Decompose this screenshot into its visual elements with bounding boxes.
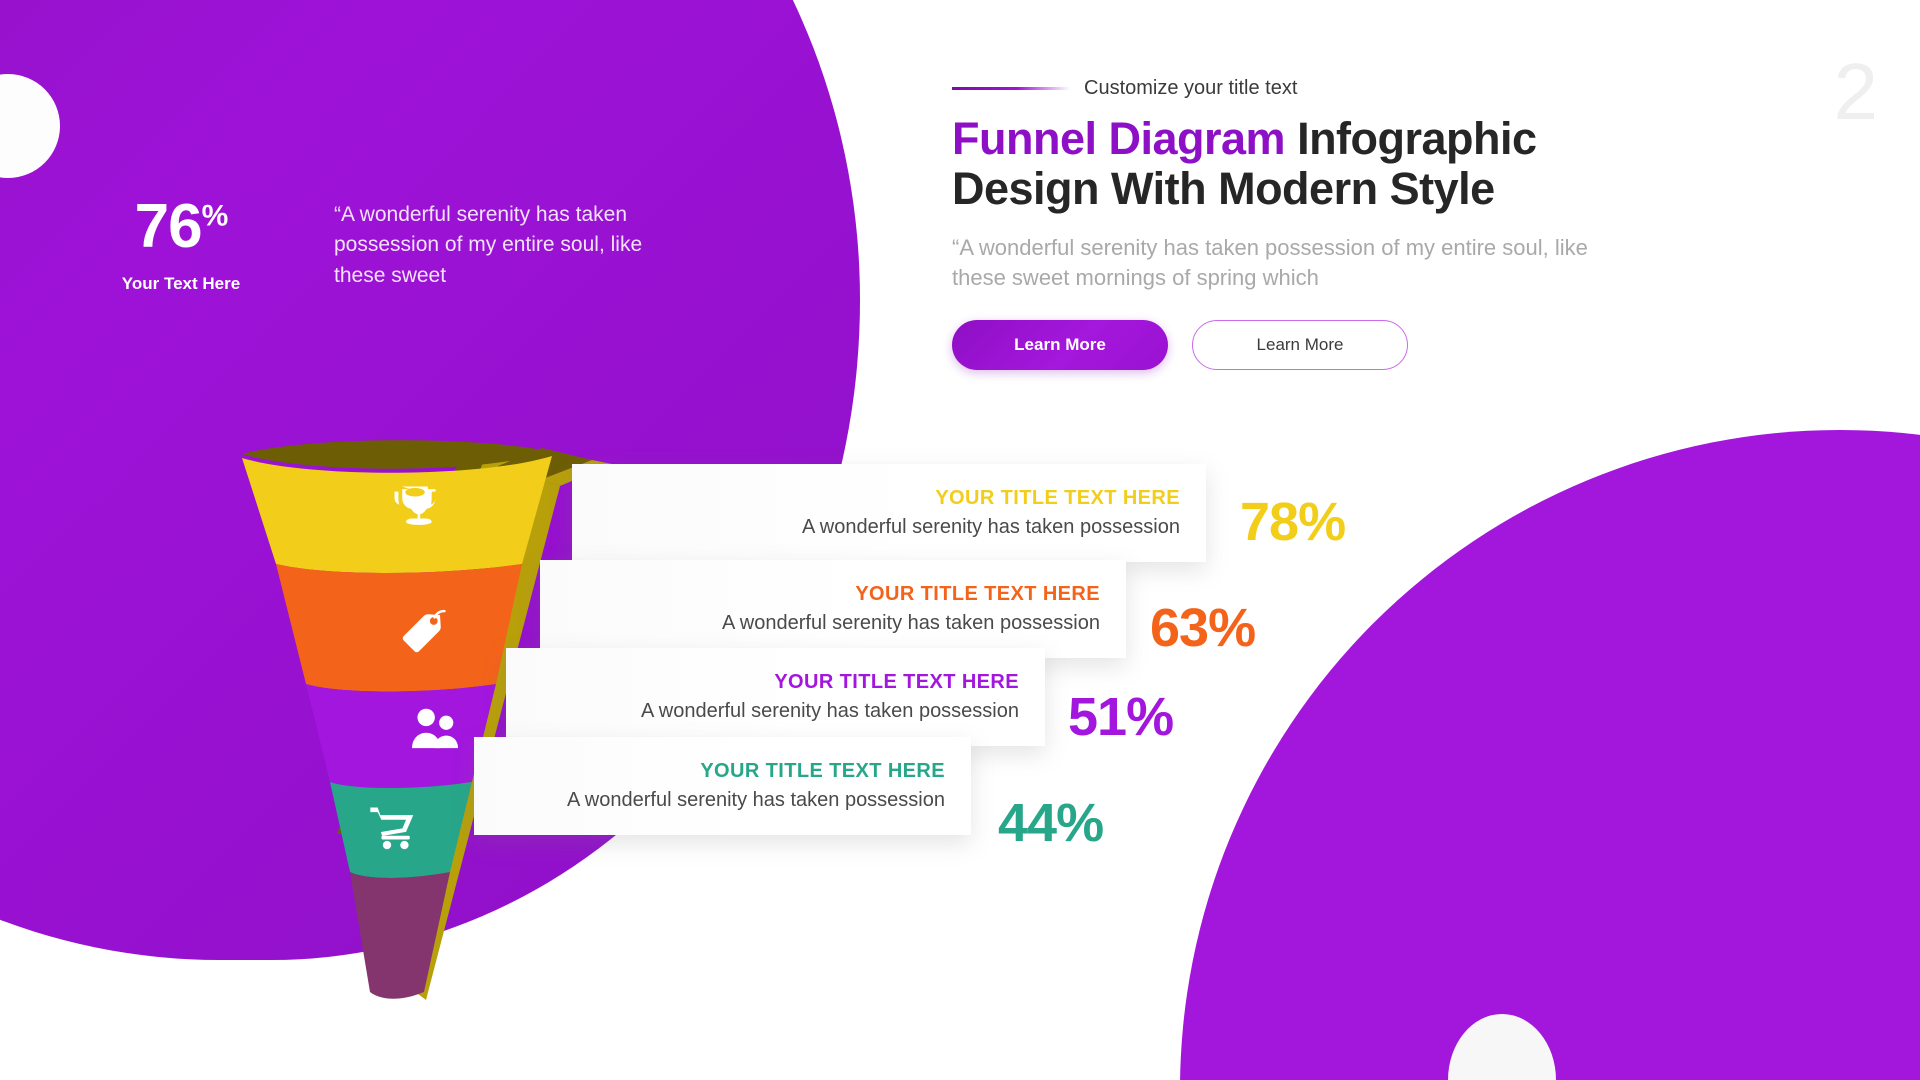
funnel-card-title: YOUR TITLE TEXT HERE (935, 487, 1180, 510)
left-quote-text: “A wonderful serenity has taken possessi… (334, 200, 664, 291)
left-stat-label: Your Text Here (116, 274, 246, 294)
funnel-card-description: A wonderful serenity has taken possessio… (722, 612, 1100, 635)
funnel-card-description: A wonderful serenity has taken possessio… (567, 789, 945, 812)
funnel-segment-1 (242, 456, 552, 573)
funnel-card-1[interactable]: YOUR TITLE TEXT HERE A wonderful serenit… (572, 464, 1206, 562)
funnel-percent-1: 78% (1240, 495, 1345, 549)
learn-more-secondary-button[interactable]: Learn More (1192, 320, 1408, 370)
funnel-card-description: A wonderful serenity has taken possessio… (802, 516, 1180, 539)
funnel-card-2[interactable]: YOUR TITLE TEXT HERE A wonderful serenit… (540, 560, 1126, 658)
header-block: Customize your title text Funnel Diagram… (952, 76, 1692, 370)
funnel-card-title: YOUR TITLE TEXT HERE (774, 671, 1019, 694)
funnel-percent-3: 51% (1068, 690, 1173, 744)
button-row: Learn More Learn More (952, 320, 1692, 370)
learn-more-primary-button[interactable]: Learn More (952, 320, 1168, 370)
page-title-accent: Funnel Diagram (952, 113, 1285, 164)
page-number: 2 (1834, 52, 1879, 132)
funnel-percent-2: 63% (1150, 601, 1255, 655)
eyebrow-line-icon (952, 87, 1070, 90)
page-title: Funnel Diagram Infographic Design With M… (952, 114, 1692, 213)
funnel-card-3[interactable]: YOUR TITLE TEXT HERE A wonderful serenit… (506, 648, 1045, 746)
funnel-percent-4: 44% (998, 796, 1103, 850)
funnel-segment-5 (350, 872, 450, 999)
funnel-segment-2 (276, 564, 522, 692)
eyebrow-row: Customize your title text (952, 76, 1692, 100)
funnel-card-title: YOUR TITLE TEXT HERE (700, 760, 945, 783)
left-stat-number: 76 (135, 192, 202, 261)
eyebrow-text: Customize your title text (1084, 77, 1297, 100)
left-stat-percent-sign: % (202, 199, 228, 232)
left-stat-block: 76% Your Text Here (116, 196, 246, 294)
funnel-segment-3 (306, 684, 496, 788)
left-stat-value: 76% (116, 196, 246, 258)
funnel-card-title: YOUR TITLE TEXT HERE (855, 583, 1100, 606)
funnel-card-description: A wonderful serenity has taken possessio… (641, 700, 1019, 723)
funnel-card-4[interactable]: YOUR TITLE TEXT HERE A wonderful serenit… (474, 737, 971, 835)
page-subtitle: “A wonderful serenity has taken possessi… (952, 233, 1612, 294)
slide-canvas: 2 76% Your Text Here “A wonderful sereni… (0, 0, 1920, 1080)
